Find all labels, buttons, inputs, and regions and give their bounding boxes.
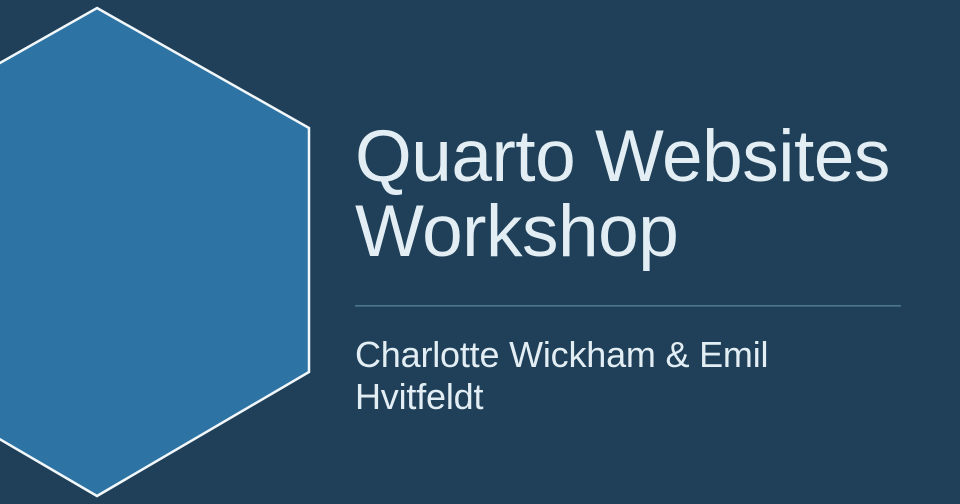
slide-authors: Charlotte Wickham & Emil Hvitfeldt (355, 334, 901, 418)
title-divider (355, 305, 901, 307)
title-block: Quarto Websites Workshop Charlotte Wickh… (355, 119, 901, 418)
page-title: Quarto Websites Workshop (355, 119, 901, 269)
hexagon-icon (0, 8, 309, 496)
hexagon-decoration (0, 0, 311, 504)
title-slide: Quarto Websites Workshop Charlotte Wickh… (0, 0, 960, 504)
